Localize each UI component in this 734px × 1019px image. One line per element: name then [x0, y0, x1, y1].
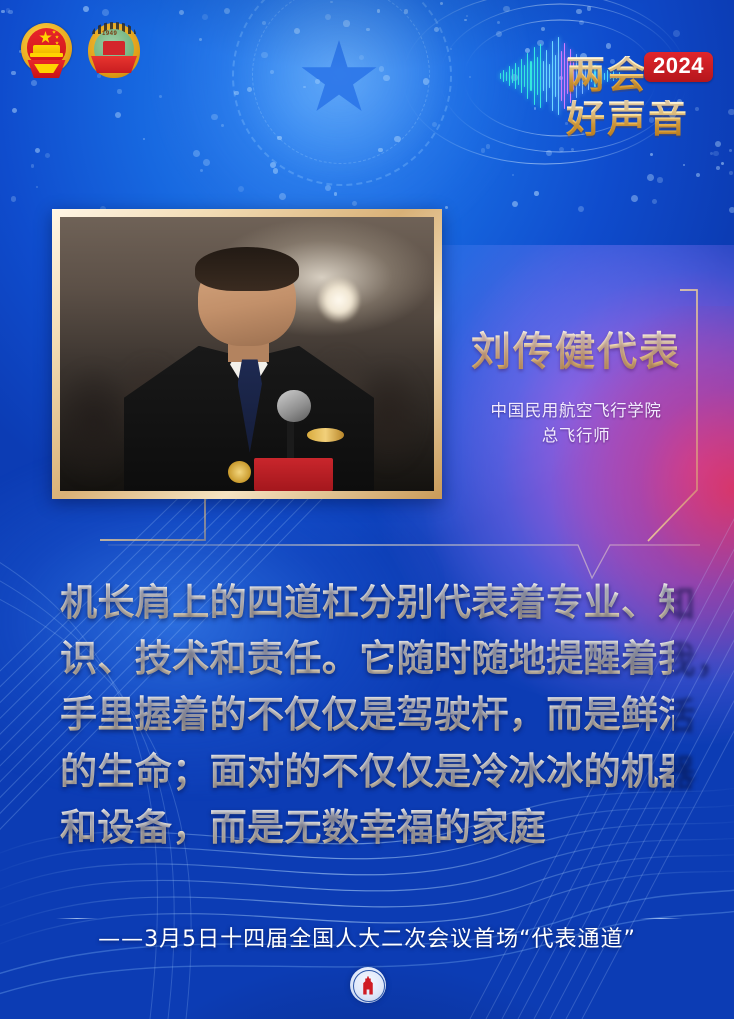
waveform-bar [540, 44, 541, 108]
footer-logo-icon [350, 967, 386, 1003]
quote-line: 手里握着的不仅仅是驾驶杆，而是鲜活 [60, 687, 674, 743]
brand-logo: 两会 好声音 2024 [566, 56, 722, 160]
speaker-name: 刘传健代表 [440, 330, 712, 374]
waveform-bar [543, 61, 544, 91]
cppcc-emblem-icon: 1949 [86, 20, 143, 82]
waveform-bar [518, 67, 519, 85]
waveform-bar [509, 66, 510, 86]
speaker-affiliation-line-2: 总飞行师 [440, 423, 712, 448]
waveform-bar [500, 73, 501, 79]
poster-canvas: 1949 两会 好声音 2024 [0, 0, 734, 1019]
quote-text: 机长肩上的四道杠分别代表着专业、知识、技术和责任。它随时随地提醒着我，手里握着的… [60, 575, 674, 856]
quote-line: 识、技术和责任。它随时随地提醒着我， [60, 631, 674, 687]
cppcc-year-label: 1949 [102, 31, 117, 37]
national-emblem-icon [18, 20, 75, 82]
brand-line-2: 好声音 [566, 100, 722, 139]
speaker-affiliation: 中国民用航空飞行学院 总飞行师 [440, 398, 712, 448]
quote-line: 机长肩上的四道杠分别代表着专业、知 [60, 575, 674, 631]
waveform-bar [537, 57, 538, 95]
waveform-bar [555, 55, 556, 97]
caption-rule-right [640, 918, 682, 919]
waveform-bar [515, 63, 516, 89]
quote-line: 的生命；面对的不仅仅是冷冰冰的机器 [60, 744, 674, 800]
waveform-bar [552, 41, 553, 111]
waveform-bar [546, 50, 547, 102]
year-badge: 2024 [644, 52, 713, 82]
waveform-bar [530, 61, 531, 91]
caption-rule-left [56, 918, 98, 919]
waveform-bar [506, 72, 507, 81]
waveform-bar [549, 64, 550, 88]
caption-source: ——3月5日十四届全国人大二次会议首场“代表通道” [0, 921, 734, 953]
waveform-bar [524, 65, 525, 87]
waveform-bar [558, 37, 559, 115]
speaker-photo-frame [52, 209, 442, 499]
waveform-bar [564, 43, 565, 109]
quote-line: 和设备，而是无数幸福的家庭 [60, 800, 674, 856]
waveform-bar [521, 59, 522, 93]
waveform-bar [527, 53, 528, 99]
waveform-bar [503, 70, 504, 82]
waveform-bar [561, 51, 562, 101]
speaker-affiliation-line-1: 中国民用航空飞行学院 [440, 398, 712, 423]
emblem-group: 1949 [18, 20, 143, 82]
waveform-bar [534, 47, 535, 105]
speaker-photo [60, 217, 434, 491]
waveform-bar [512, 69, 513, 83]
